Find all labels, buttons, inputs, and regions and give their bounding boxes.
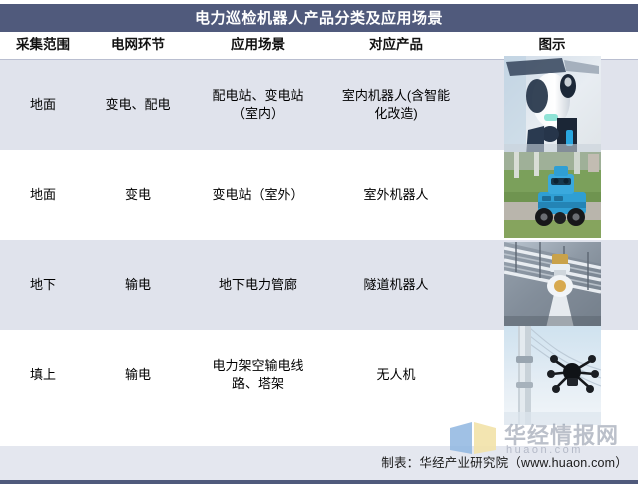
cell-collection-scope: 地面: [0, 150, 86, 240]
table-row: 地面 变电 变电站（室外） 室外机器人: [0, 150, 638, 240]
table-row: 地下 输电 地下电力管廊 隧道机器人: [0, 240, 638, 330]
cell-grid-link: 变电: [86, 150, 190, 240]
page-title: 电力巡检机器人产品分类及应用场景: [195, 11, 443, 26]
column-header-scenario: 应用场景: [190, 32, 326, 59]
data-table: 采集范围 电网环节 应用场景 对应产品 图示 地面 变电、配电 配电站、变电站 …: [0, 32, 638, 420]
cell-scenario: 配电站、变电站 （室内）: [190, 60, 326, 150]
cell-grid-link: 输电: [86, 240, 190, 330]
cell-product: 无人机: [326, 330, 466, 420]
footer-credit: 制表：华经产业研究院（www.huaon.com）: [381, 452, 628, 471]
column-header-collection-scope: 采集范围: [0, 32, 86, 59]
table-row: 填上 输电 电力架空输电线 路、塔架 无人机: [0, 330, 638, 420]
outdoor-wheeled-robot-image: [504, 152, 601, 238]
title-bar: 电力巡检机器人产品分类及应用场景: [0, 4, 638, 32]
cell-product: 室外机器人: [326, 150, 466, 240]
cell-illustration: [466, 150, 638, 240]
drone-near-tower-image: [504, 326, 601, 425]
tunnel-rail-robot-image: [504, 242, 601, 328]
column-header-product: 对应产品: [326, 32, 466, 59]
cell-grid-link: 输电: [86, 330, 190, 420]
column-header-grid-link: 电网环节: [86, 32, 190, 59]
footer-bottom-rule: [0, 480, 638, 484]
cell-illustration: [466, 330, 638, 420]
cell-collection-scope: 填上: [0, 330, 86, 420]
cell-collection-scope: 地下: [0, 240, 86, 330]
cell-grid-link: 变电、配电: [86, 60, 190, 150]
cell-product: 隧道机器人: [326, 240, 466, 330]
cell-illustration: [466, 240, 638, 330]
cell-scenario: 变电站（室外）: [190, 150, 326, 240]
cell-collection-scope: 地面: [0, 60, 86, 150]
cell-scenario: 电力架空输电线 路、塔架: [190, 330, 326, 420]
cell-illustration: [466, 60, 638, 150]
cell-product: 室内机器人(含智能 化改造): [326, 60, 466, 150]
table-infographic: 电力巡检机器人产品分类及应用场景 采集范围 电网环节 应用场景 对应产品 图示 …: [0, 0, 638, 484]
cell-scenario: 地下电力管廊: [190, 240, 326, 330]
table-row: 地面 变电、配电 配电站、变电站 （室内） 室内机器人(含智能 化改造): [0, 60, 638, 150]
indoor-humanoid-robot-image: [504, 56, 601, 155]
